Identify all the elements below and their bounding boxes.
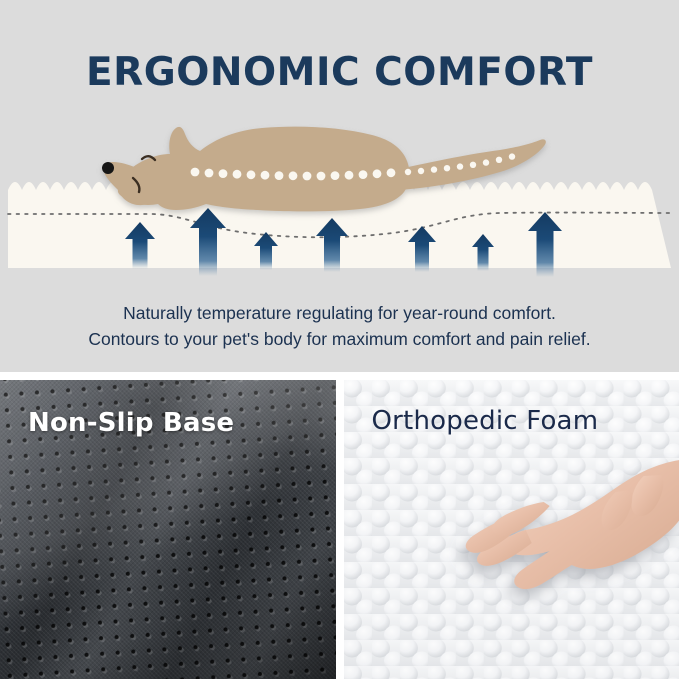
- panel-divider: [0, 372, 679, 380]
- dog-body: [118, 127, 410, 212]
- caption-line-1: Naturally temperature regulating for yea…: [0, 300, 679, 326]
- dog-on-mattress-illustration: [0, 110, 679, 300]
- illustration-svg: [0, 110, 679, 300]
- feature-panels-row: Non-Slip Base: [0, 380, 679, 679]
- orthopedic-foam-label: Orthopedic Foam: [372, 406, 599, 436]
- caption-line-2: Contours to your pet's body for maximum …: [0, 326, 679, 352]
- feature-panel-non-slip-base: Non-Slip Base: [0, 380, 336, 679]
- page-title: ERGONOMIC COMFORT: [0, 50, 679, 95]
- ergonomic-comfort-panel: ERGONOMIC COMFORT: [0, 0, 679, 372]
- non-slip-base-label: Non-Slip Base: [28, 408, 234, 438]
- product-infographic: ERGONOMIC COMFORT: [0, 0, 679, 679]
- dog-nose: [102, 162, 114, 174]
- caption-block: Naturally temperature regulating for yea…: [0, 300, 679, 352]
- feature-panel-orthopedic-foam: Orthopedic Foam: [344, 380, 679, 679]
